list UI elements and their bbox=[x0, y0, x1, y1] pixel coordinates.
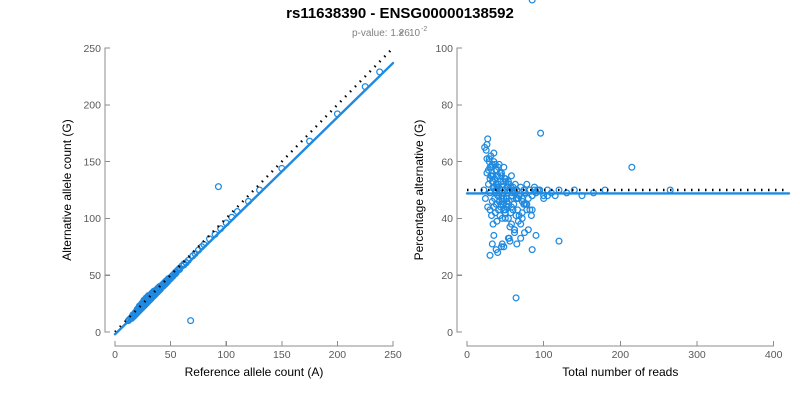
right-y-tick-label: 100 bbox=[435, 43, 453, 55]
figure-container: rs11638390 - ENSG00000138592 p-value: 1.… bbox=[0, 0, 800, 400]
left-y-tick-label: 100 bbox=[83, 213, 101, 225]
plot-canvas: rs11638390 - ENSG00000138592 p-value: 1.… bbox=[0, 0, 800, 400]
right-y-tick-label: 60 bbox=[441, 156, 453, 168]
right-x-tick-label: 100 bbox=[535, 349, 553, 361]
left-x-tick-label: 100 bbox=[217, 349, 235, 361]
right-y-tick-label: 80 bbox=[441, 100, 453, 112]
right-y-axis-label: Percentage alternative (G) bbox=[412, 120, 426, 261]
left-y-axis-label: Alternative allele count (G) bbox=[60, 119, 74, 260]
subtitle-exponent: -2 bbox=[421, 26, 427, 33]
left-y-tick-label: 200 bbox=[83, 100, 101, 112]
right-x-tick-label: 0 bbox=[464, 349, 470, 361]
right-x-tick-label: 400 bbox=[765, 349, 783, 361]
figure-subtitle: p-value: 1.26 × 10 -2 bbox=[352, 26, 427, 39]
left-x-tick-label: 200 bbox=[329, 349, 347, 361]
subtitle-times-symbol: × bbox=[398, 28, 404, 39]
left-x-tick-label: 0 bbox=[112, 349, 118, 361]
left-y-tick-label: 0 bbox=[95, 327, 101, 339]
right-x-axis-label: Total number of reads bbox=[562, 365, 678, 379]
left-y-tick-label: 50 bbox=[89, 270, 101, 282]
figure-background bbox=[0, 0, 800, 400]
subtitle-base: 10 bbox=[409, 28, 421, 39]
right-y-tick-label: 40 bbox=[441, 213, 453, 225]
left-x-tick-label: 250 bbox=[384, 349, 402, 361]
right-y-tick-label: 20 bbox=[441, 270, 453, 282]
left-x-axis-label: Reference allele count (A) bbox=[185, 365, 324, 379]
left-x-tick-label: 50 bbox=[165, 349, 177, 361]
left-x-tick-label: 150 bbox=[273, 349, 291, 361]
left-y-tick-label: 250 bbox=[83, 43, 101, 55]
figure-title: rs11638390 - ENSG00000138592 bbox=[286, 5, 514, 22]
left-y-tick-label: 150 bbox=[83, 156, 101, 168]
right-x-tick-label: 200 bbox=[612, 349, 630, 361]
right-x-tick-label: 300 bbox=[688, 349, 706, 361]
right-y-tick-label: 0 bbox=[447, 327, 453, 339]
